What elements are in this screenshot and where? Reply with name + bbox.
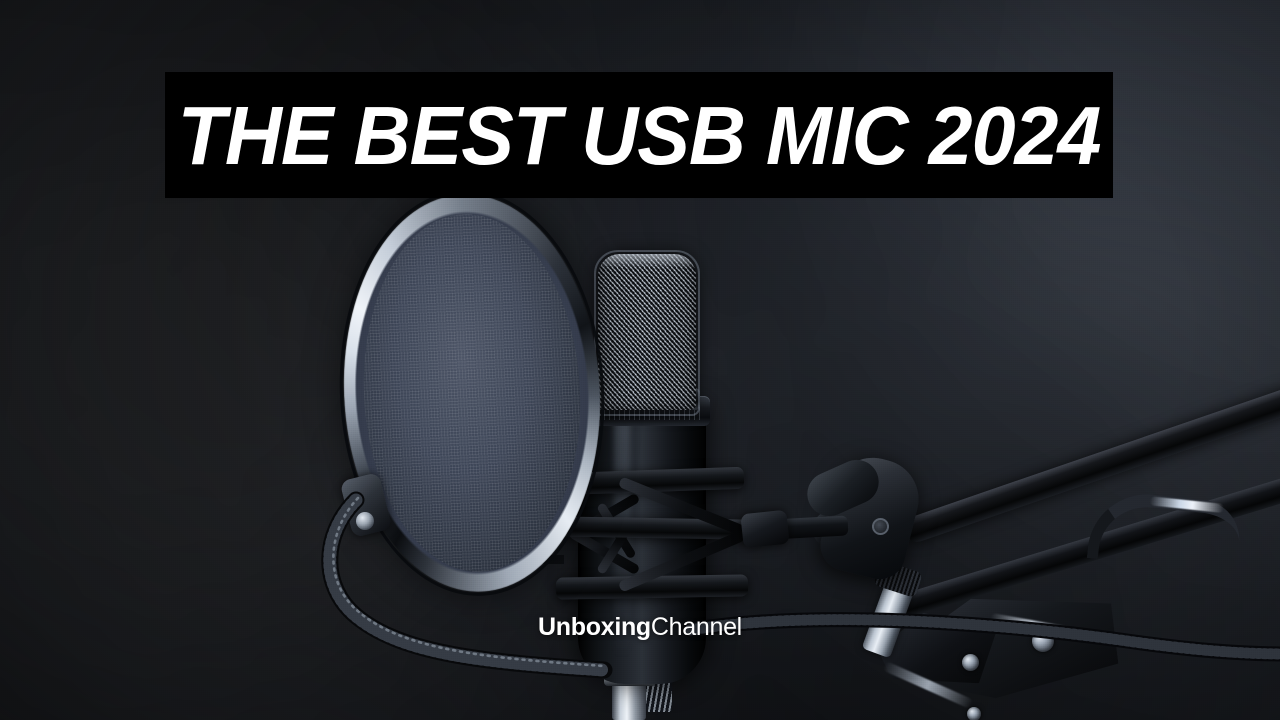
watermark-regular-part: Channel [651,613,742,641]
watermark-bold-part: Unboxing [538,613,651,641]
clamp-bolt-small [967,707,981,720]
pop-filter-gooseneck [312,494,612,684]
channel-watermark: UnboxingChannel [0,614,1280,642]
adjustment-knob-marker [872,518,889,535]
title-banner: THE BEST USB MIC 2024 [165,72,1113,198]
title-text: THE BEST USB MIC 2024 [178,94,1101,176]
microphone-grille [598,254,696,410]
shock-mount-hub [740,510,789,549]
thumbnail-canvas: THE BEST USB MIC 2024 UnboxingChannel [0,0,1280,720]
clamp-bolt-medium [962,654,979,671]
